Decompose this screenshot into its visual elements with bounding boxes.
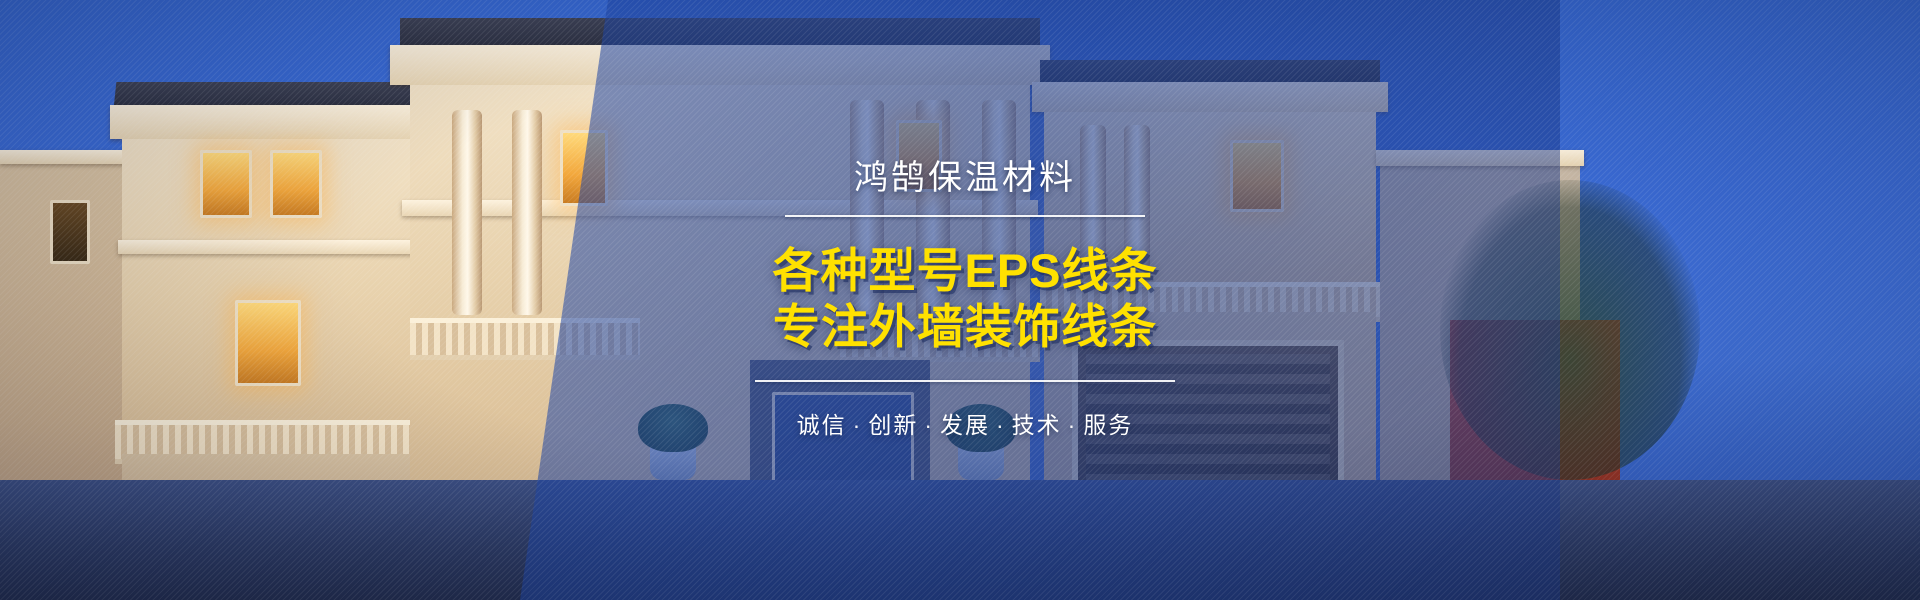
divider-bottom [755,380,1175,382]
tagline-item: 技术 [1012,412,1062,438]
brand-name: 鸿鹄保温材料 [735,160,1195,197]
tagline: 诚信·创新·发展·技术·服务 [735,406,1195,440]
headline-line-2: 专注外墙装饰线条 [735,299,1195,354]
tagline-item: 创新 [868,412,918,438]
tagline-separator: · [996,412,1006,438]
headline-line-1: 各种型号EPS线条 [735,243,1195,298]
divider-top [785,215,1145,217]
tagline-separator: · [924,412,934,438]
tagline-separator: · [1068,412,1078,438]
tagline-item: 发展 [940,412,990,438]
banner-content: 鸿鹄保温材料 各种型号EPS线条 专注外墙装饰线条 诚信·创新·发展·技术·服务 [0,0,1920,600]
tagline-item: 服务 [1083,412,1133,438]
hero-banner: 鸿鹄保温材料 各种型号EPS线条 专注外墙装饰线条 诚信·创新·发展·技术·服务 [0,0,1920,600]
tagline-item: 诚信 [797,412,847,438]
banner-text-block: 鸿鹄保温材料 各种型号EPS线条 专注外墙装饰线条 诚信·创新·发展·技术·服务 [735,160,1195,440]
tagline-separator: · [853,412,863,438]
